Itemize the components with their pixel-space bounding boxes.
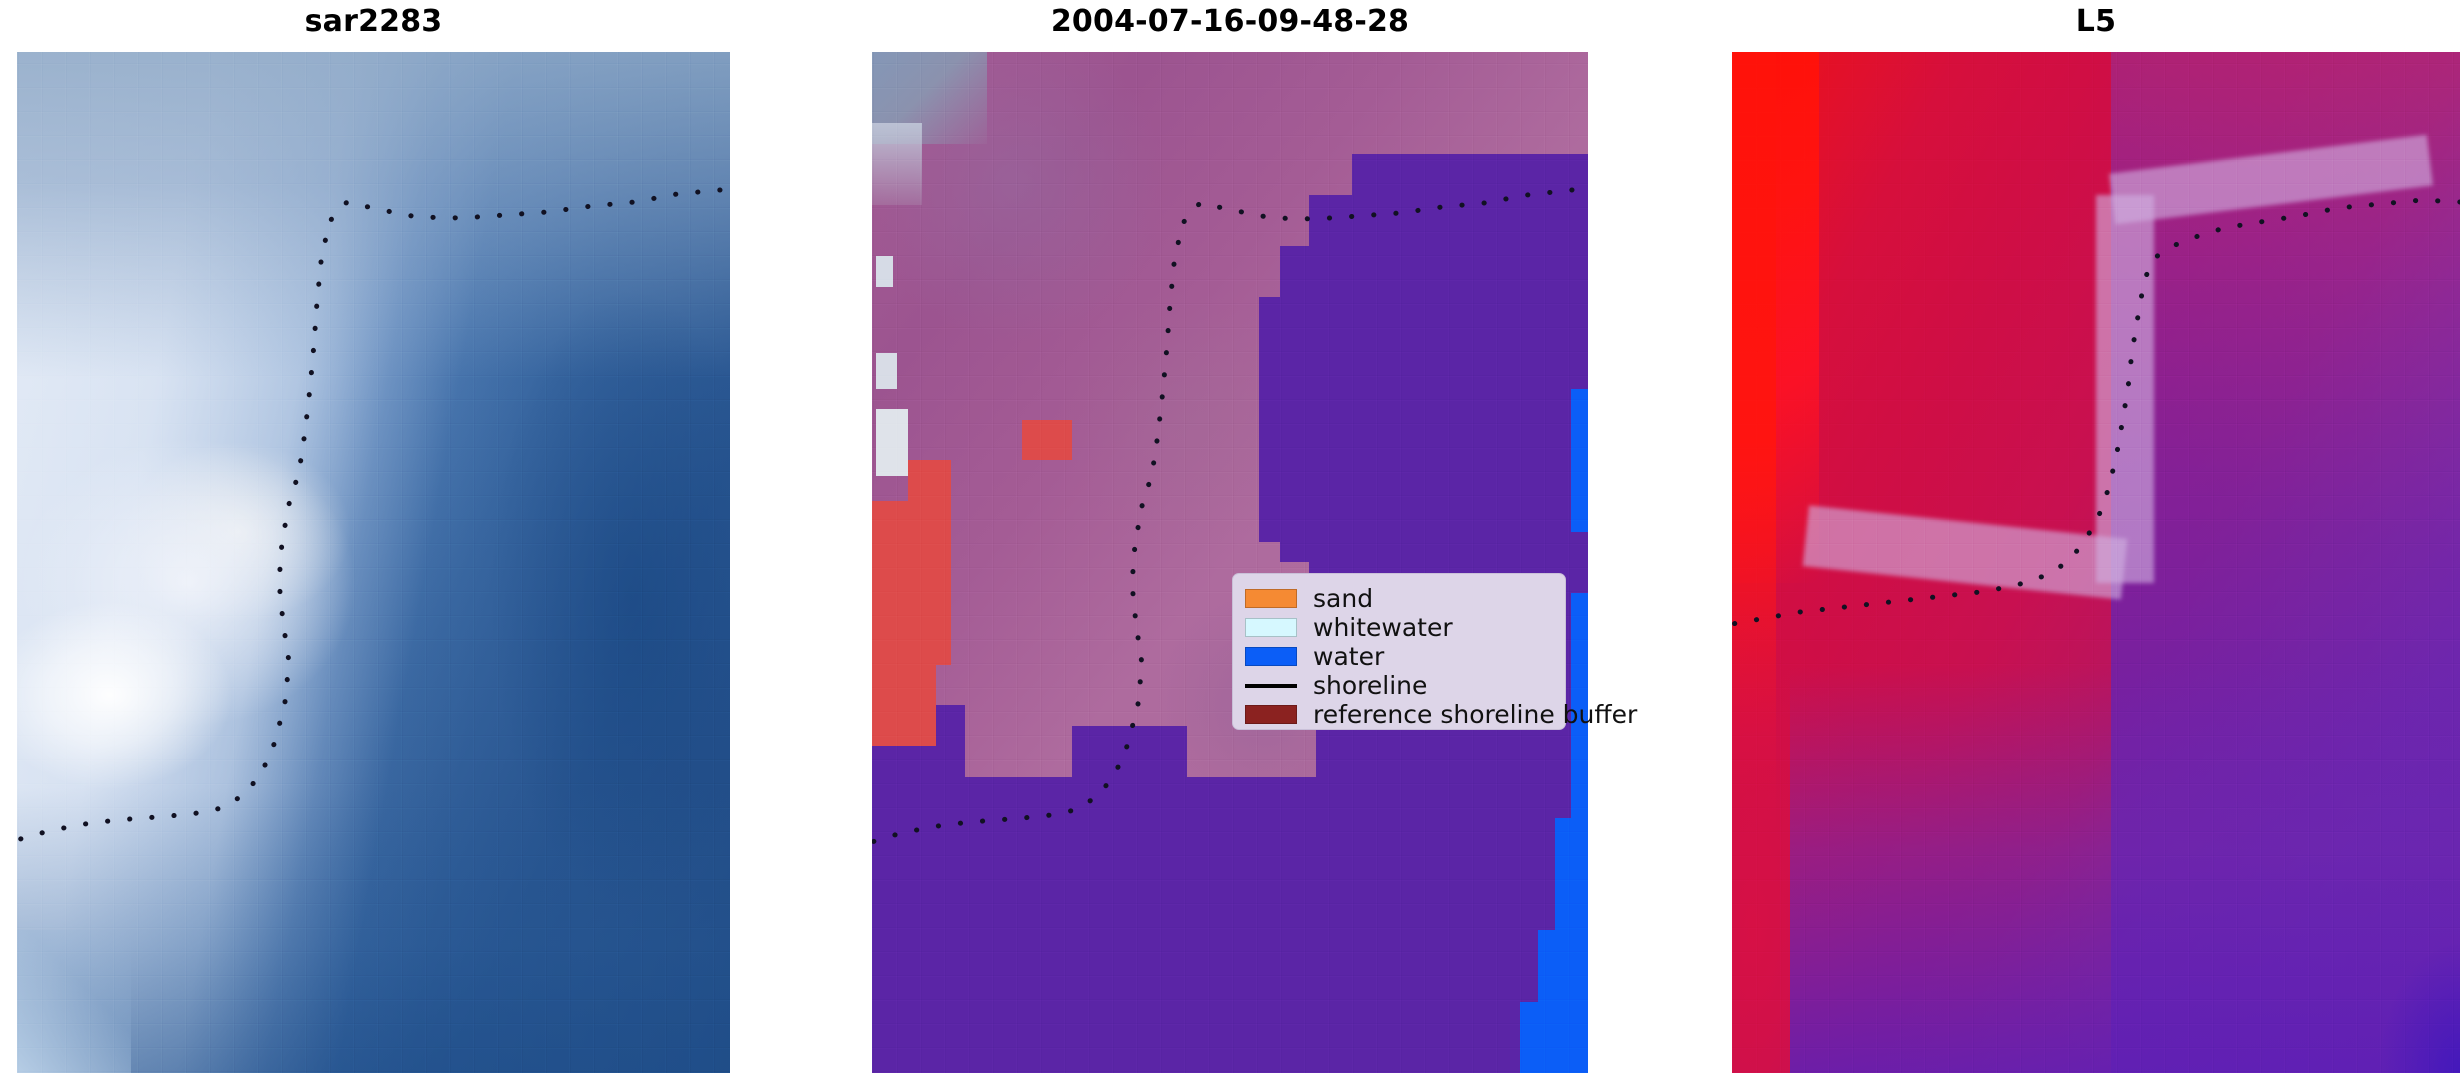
classified-unclassified-corner-2 bbox=[872, 123, 922, 205]
legend-item-sand: sand bbox=[1245, 584, 1551, 613]
classified-water-region-bottom-rise-b bbox=[1072, 726, 1187, 777]
reference-buffer-blob-small bbox=[1022, 420, 1072, 461]
legend-swatch-reference-buffer bbox=[1245, 705, 1297, 724]
panel-sar2283-title: sar2283 bbox=[17, 4, 730, 39]
legend-item-shoreline: shoreline bbox=[1245, 671, 1551, 700]
sar-bottom-left-corner bbox=[17, 930, 131, 1073]
legend-label-water: water bbox=[1313, 642, 1384, 671]
legend-swatch-whitewater bbox=[1245, 618, 1297, 637]
l5-deep-blue-corner bbox=[2358, 910, 2460, 1073]
sar-deep-water bbox=[402, 277, 730, 992]
panel-sar2283: sar2283 bbox=[17, 0, 730, 1073]
legend-label-sand: sand bbox=[1313, 584, 1373, 613]
legend-box: sand whitewater water shoreline referenc… bbox=[1232, 573, 1566, 730]
panel-l5: L5 bbox=[1732, 0, 2460, 1073]
legend-swatch-shoreline bbox=[1245, 684, 1297, 688]
classified-water-region-bottom bbox=[872, 777, 1588, 1073]
panel-l5-title: L5 bbox=[1732, 4, 2460, 39]
legend-swatch-sand bbox=[1245, 589, 1297, 608]
classified-water-region-main bbox=[1352, 154, 1588, 603]
reference-buffer-blob-large-c bbox=[872, 583, 936, 746]
legend-item-whitewater: whitewater bbox=[1245, 613, 1551, 642]
classified-water-pure-strip-bot3 bbox=[1520, 1002, 1588, 1073]
legend-item-water: water bbox=[1245, 642, 1551, 671]
legend-swatch-water bbox=[1245, 647, 1297, 666]
classified-water-pure-strip-top bbox=[1571, 389, 1588, 532]
classified-whitewater-patch-1 bbox=[876, 409, 908, 475]
classified-water-region-step2 bbox=[1280, 246, 1309, 563]
panel-classified-title: 2004-07-16-09-48-28 bbox=[872, 4, 1588, 39]
panel-sar2283-axes bbox=[17, 52, 730, 1073]
legend-label-shoreline: shoreline bbox=[1313, 671, 1427, 700]
classified-water-region-step1 bbox=[1309, 195, 1352, 583]
panel-classified-axes bbox=[872, 52, 1588, 1073]
l5-shoreline-lilac-mid bbox=[2096, 195, 2154, 583]
panel-classified: 2004-07-16-09-48-28 bbox=[872, 0, 1588, 1073]
figure-root: sar2283 2004-07-16-09-48-28 bbox=[0, 0, 2460, 1089]
legend-label-reference-buffer: reference shoreline buffer bbox=[1313, 700, 1637, 729]
panel-l5-axes bbox=[1732, 52, 2460, 1073]
legend-label-whitewater: whitewater bbox=[1313, 613, 1453, 642]
classified-whitewater-patch-3 bbox=[876, 256, 894, 287]
classified-whitewater-patch-2 bbox=[876, 353, 897, 389]
classified-water-region-step3 bbox=[1259, 297, 1280, 542]
legend-item-reference-buffer: reference shoreline buffer bbox=[1245, 700, 1551, 729]
